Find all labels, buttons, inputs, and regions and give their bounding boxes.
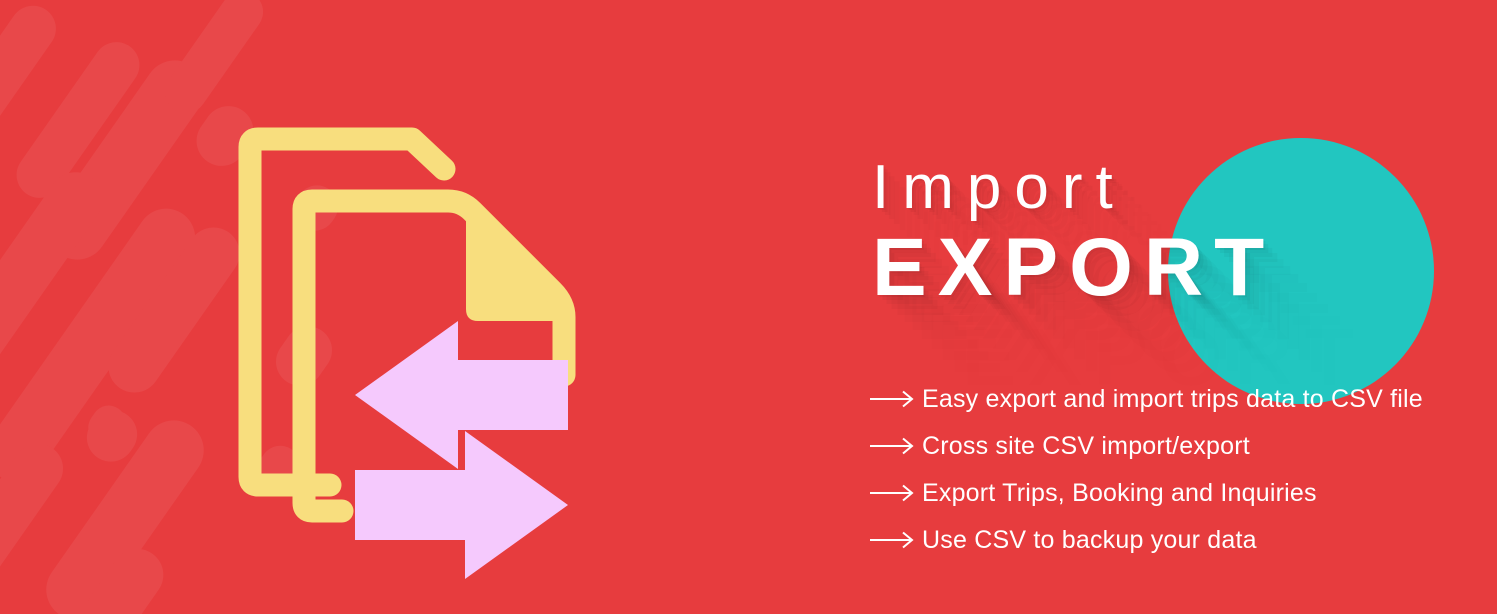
decor-capsule: [0, 197, 207, 492]
decor-capsule: [34, 409, 215, 614]
list-item-label: Use CSV to backup your data: [922, 526, 1257, 554]
import-export-documents-illustration: [230, 125, 590, 520]
headline-export: EXPORT: [872, 225, 1492, 311]
decor-capsule: [35, 49, 216, 272]
arrow-right-icon: [355, 431, 568, 579]
decor-capsule: [82, 399, 133, 451]
decor-capsule: [98, 217, 250, 402]
arrow-right-icon: [870, 437, 922, 455]
list-item: Easy export and import trips data to CSV…: [870, 375, 1470, 422]
feature-list: Easy export and import trips data to CSV…: [870, 375, 1470, 563]
arrow-right-icon: [870, 390, 922, 408]
import-export-banner: Import EXPORT Easy export and import tri…: [0, 0, 1497, 614]
list-item-label: Cross site CSV import/export: [922, 432, 1250, 460]
list-item-label: Export Trips, Booking and Inquiries: [922, 479, 1317, 507]
decor-capsule: [157, 0, 272, 121]
decor-capsule: [8, 33, 149, 207]
arrow-right-icon: [870, 531, 922, 549]
list-item: Use CSV to backup your data: [870, 516, 1470, 563]
list-item: Export Trips, Booking and Inquiries: [870, 469, 1470, 516]
decor-capsule: [0, 0, 65, 203]
headline-block: Import EXPORT: [872, 155, 1492, 311]
decor-capsule: [76, 539, 173, 614]
headline-import: Import: [872, 155, 1492, 221]
decor-capsule: [77, 401, 146, 471]
arrow-left-icon: [355, 321, 568, 469]
arrow-right-icon: [870, 484, 922, 502]
list-item: Cross site CSV import/export: [870, 422, 1470, 469]
documents-and-arrows-svg: [230, 125, 590, 520]
decor-capsule: [0, 434, 73, 614]
decor-capsule: [0, 162, 113, 439]
list-item-label: Easy export and import trips data to CSV…: [922, 385, 1423, 413]
